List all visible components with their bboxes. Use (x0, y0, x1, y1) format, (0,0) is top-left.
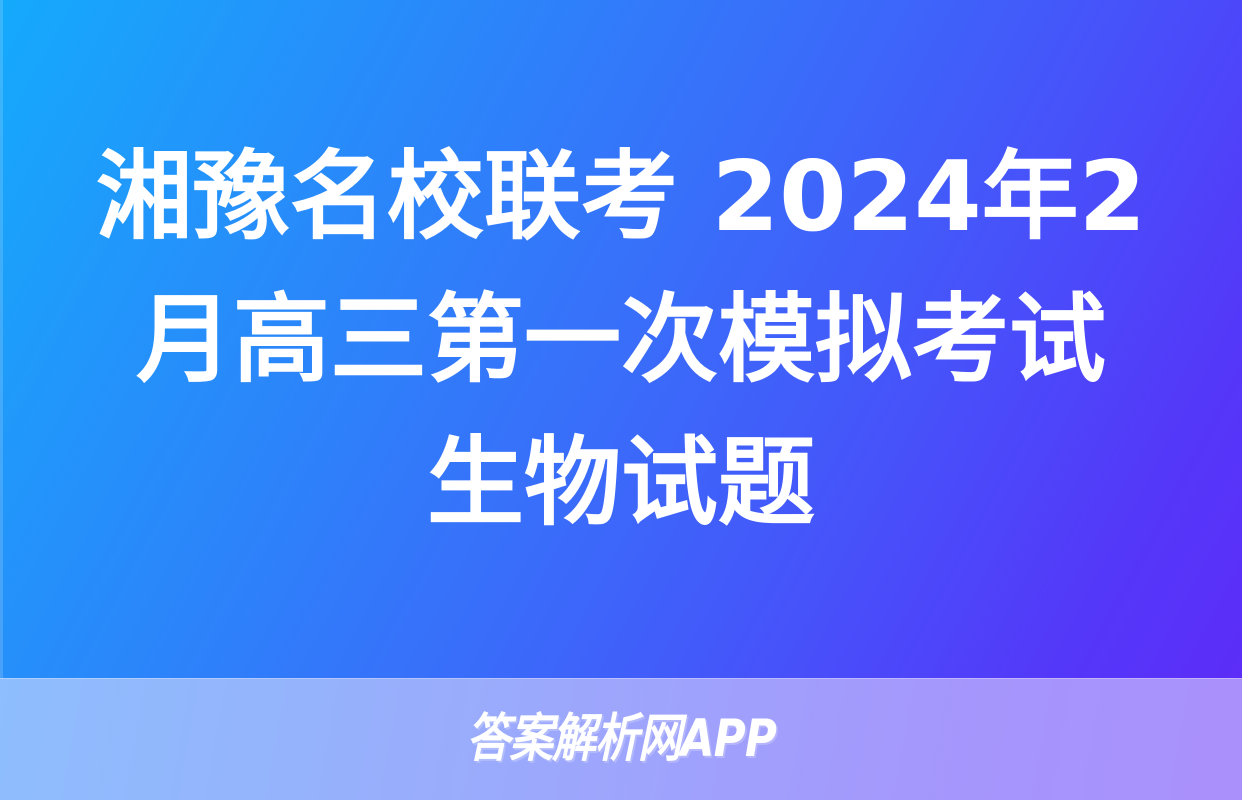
hero-gradient-panel: 湘豫名校联考 2024年2月高三第一次模拟考试生物试题 (0, 0, 1242, 678)
footer-watermark-band: 答案解析网APP (0, 678, 1242, 800)
exam-paper-cover-screen: 湘豫名校联考 2024年2月高三第一次模拟考试生物试题 答案解析网APP (0, 0, 1242, 800)
title-block: 湘豫名校联考 2024年2月高三第一次模拟考试生物试题 (0, 0, 1242, 678)
watermark-container: 答案解析网APP (0, 678, 1242, 800)
watermark-brand-label: 答案解析网APP (466, 713, 776, 765)
page-title: 湘豫名校联考 2024年2月高三第一次模拟考试生物试题 (92, 125, 1150, 554)
